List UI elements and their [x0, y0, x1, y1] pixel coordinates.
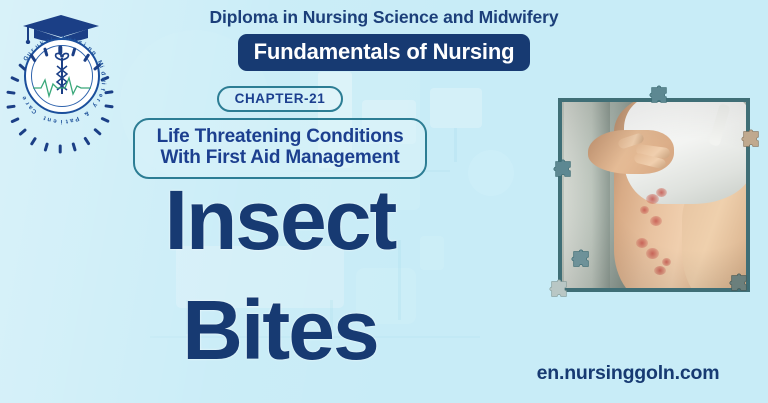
- unit-title-box: Life Threatening Conditions With First A…: [133, 118, 428, 179]
- logo-arc-char: d: [99, 71, 107, 76]
- puzzle-piece-icon: [740, 128, 762, 150]
- puzzle-piece-icon: [648, 84, 670, 106]
- unit-title-line-1: Life Threatening Conditions: [157, 126, 404, 147]
- subject-banner: Fundamentals of Nursing: [238, 34, 531, 71]
- puzzle-piece-icon: [728, 272, 750, 294]
- puzzle-piece-icon: [548, 278, 570, 300]
- main-title-line-2: Bites: [0, 288, 560, 372]
- subject-banner-wrap: Fundamentals of Nursing: [0, 34, 768, 71]
- program-title: Diploma in Nursing Science and Midwifery: [0, 7, 768, 28]
- unit-title-line-2: With First Aid Management: [160, 147, 399, 168]
- website-url: en.nursinggoln.com: [508, 362, 748, 385]
- course-banner: Gurukul Nursing Midwifery & Patient Care…: [0, 0, 768, 403]
- chapter-pill-wrap: CHAPTER-21: [0, 86, 560, 112]
- gurukul-nursing-logo: Gurukul Nursing Midwifery & Patient Care: [10, 14, 114, 132]
- chapter-pill: CHAPTER-21: [217, 86, 344, 112]
- puzzle-piece-icon: [570, 248, 592, 270]
- logo-arc-char: w: [100, 77, 107, 82]
- puzzle-piece-icon: [552, 158, 574, 180]
- unit-title-wrap: Life Threatening Conditions With First A…: [0, 118, 560, 179]
- main-title-line-1: Insect: [0, 178, 560, 262]
- logo-arc-char: i: [100, 83, 107, 85]
